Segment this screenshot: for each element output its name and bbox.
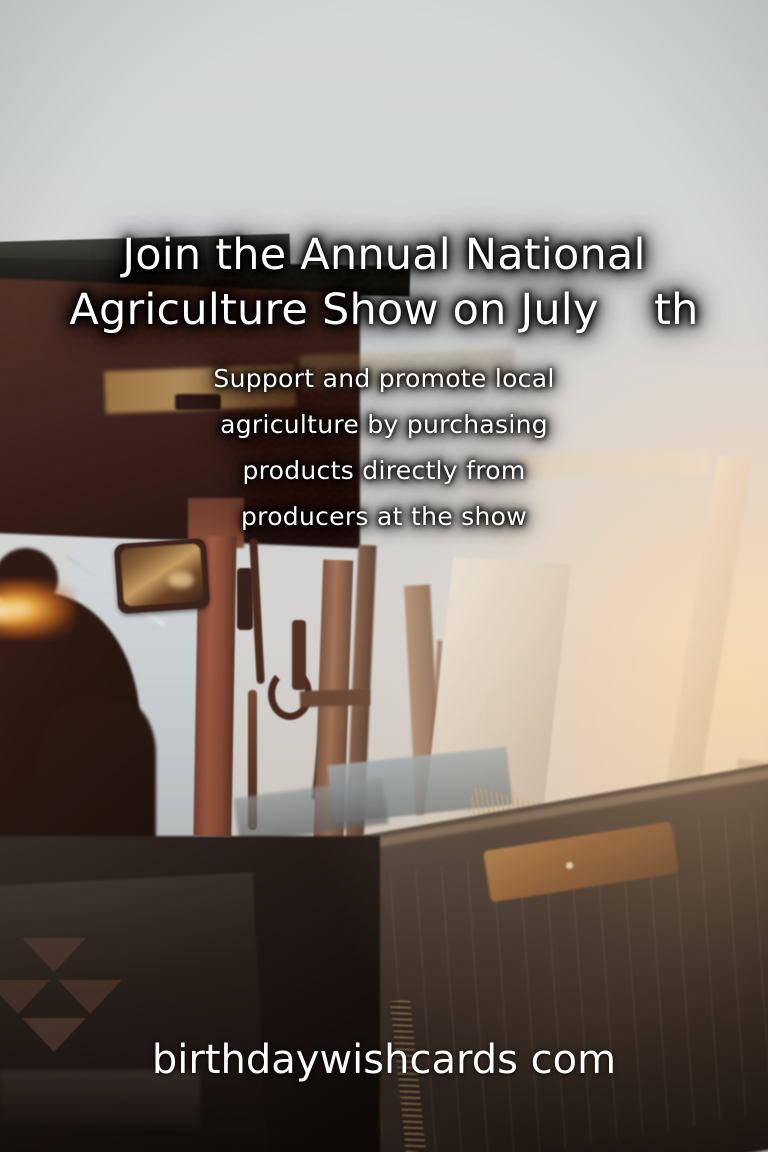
subtitle: Support and promote local agriculture by…: [0, 356, 768, 540]
headline: Join the Annual National Agriculture Sho…: [0, 228, 768, 338]
site-watermark: birthdaywishcards com: [0, 1034, 768, 1086]
text-overlay: Join the Annual National Agriculture Sho…: [0, 0, 768, 1152]
greeting-card: Join the Annual National Agriculture Sho…: [0, 0, 768, 1152]
